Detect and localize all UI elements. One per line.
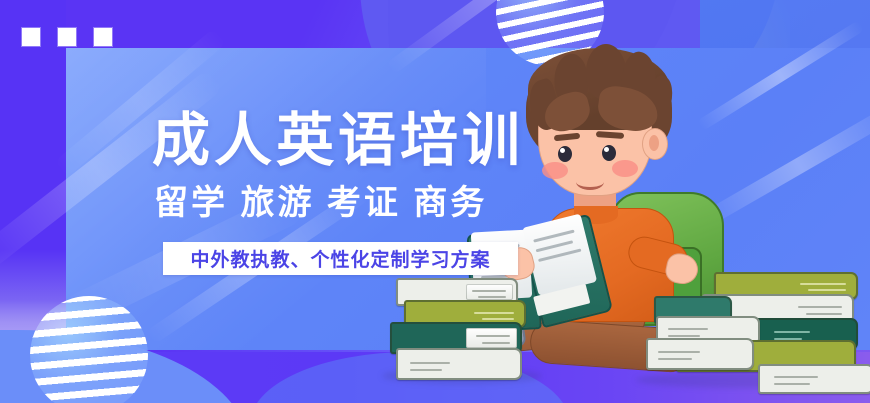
page-line	[538, 248, 581, 262]
striped-sphere-icon	[30, 296, 148, 403]
book-stack-right	[640, 272, 860, 384]
banner-title: 成人英语培训	[152, 112, 524, 170]
page-line	[774, 383, 810, 385]
page-line	[658, 351, 700, 353]
eye-highlight	[560, 148, 565, 153]
square-icon	[94, 28, 112, 46]
page-line	[476, 335, 510, 337]
cheek-blush-left	[542, 162, 568, 179]
page-line	[482, 342, 510, 344]
page-line	[808, 289, 846, 291]
banner-subtitle: 留学 旅游 考证 商务	[154, 186, 487, 220]
page-line	[798, 306, 842, 308]
page-line	[478, 296, 506, 298]
book-item	[758, 364, 870, 394]
decorative-squares	[22, 28, 112, 46]
page-line	[536, 240, 574, 252]
cheek-blush-right	[612, 160, 638, 177]
tagline-box: 中外教执教、个性化定制学习方案	[163, 242, 518, 275]
tagline-text: 中外教执教、个性化定制学习方案	[190, 245, 490, 272]
sphere-stripes	[30, 296, 148, 403]
page-line	[410, 369, 442, 371]
page-line	[658, 358, 692, 360]
book-stack-left	[386, 278, 526, 382]
page-line	[774, 376, 818, 378]
page-line	[668, 335, 700, 337]
square-icon	[22, 28, 40, 46]
page-line	[410, 362, 450, 364]
page-line	[668, 328, 708, 330]
mouth	[576, 174, 604, 190]
page-line	[806, 313, 842, 315]
page-line	[800, 283, 846, 285]
book-item	[646, 338, 754, 370]
book-pages	[466, 328, 517, 348]
eye-highlight	[604, 147, 609, 152]
page-line	[474, 312, 514, 314]
book-item	[396, 348, 522, 380]
page-line	[774, 331, 810, 333]
promo-banner: 成人英语培训 留学 旅游 考证 商务 中外教执教、个性化定制学习方案	[0, 0, 870, 403]
page-line	[472, 290, 506, 292]
ear-inner	[649, 135, 659, 151]
page-line	[482, 318, 514, 320]
square-icon	[58, 28, 76, 46]
